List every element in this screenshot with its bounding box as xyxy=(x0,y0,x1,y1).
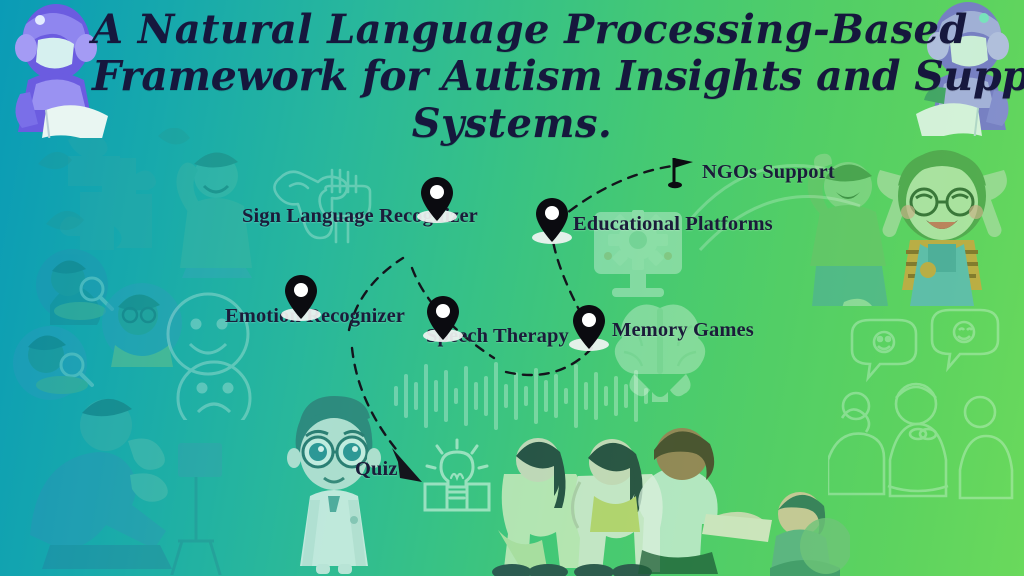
node-label: Quiz xyxy=(355,458,398,481)
node-ngos-support[interactable]: NGOs Support xyxy=(668,155,835,189)
node-emotion-recognizer[interactable]: Emotion Recognizer xyxy=(225,305,318,328)
node-memory-games[interactable]: Memory Games xyxy=(572,310,754,350)
node-speech-therapy[interactable]: Speech Therapy xyxy=(426,325,460,348)
poster-canvas: A Natural Language Processing-Based Fram… xyxy=(0,0,1024,576)
map-pin-icon xyxy=(572,304,606,350)
map-pin-icon xyxy=(420,176,454,222)
title-line-1: A Natural Language Processing-Based xyxy=(92,6,932,53)
map-pin-icon xyxy=(535,197,569,243)
node-educational-platforms[interactable]: Educational Platforms xyxy=(535,205,773,243)
node-quiz[interactable]: Quiz xyxy=(355,458,398,481)
map-pin-icon xyxy=(426,295,460,341)
page-title: A Natural Language Processing-Based Fram… xyxy=(0,6,1024,147)
node-label: Educational Platforms xyxy=(573,213,773,236)
node-label: Memory Games xyxy=(612,319,754,342)
title-line-2: Framework for Autism Insights and Suppor… xyxy=(92,53,932,100)
flag-icon xyxy=(668,155,696,189)
title-line-3: Systems. xyxy=(92,100,932,147)
map-pin-icon xyxy=(284,274,318,320)
node-label: NGOs Support xyxy=(702,161,835,184)
node-sign-language-recognizer[interactable]: Sign Language Recognizer xyxy=(242,205,454,228)
